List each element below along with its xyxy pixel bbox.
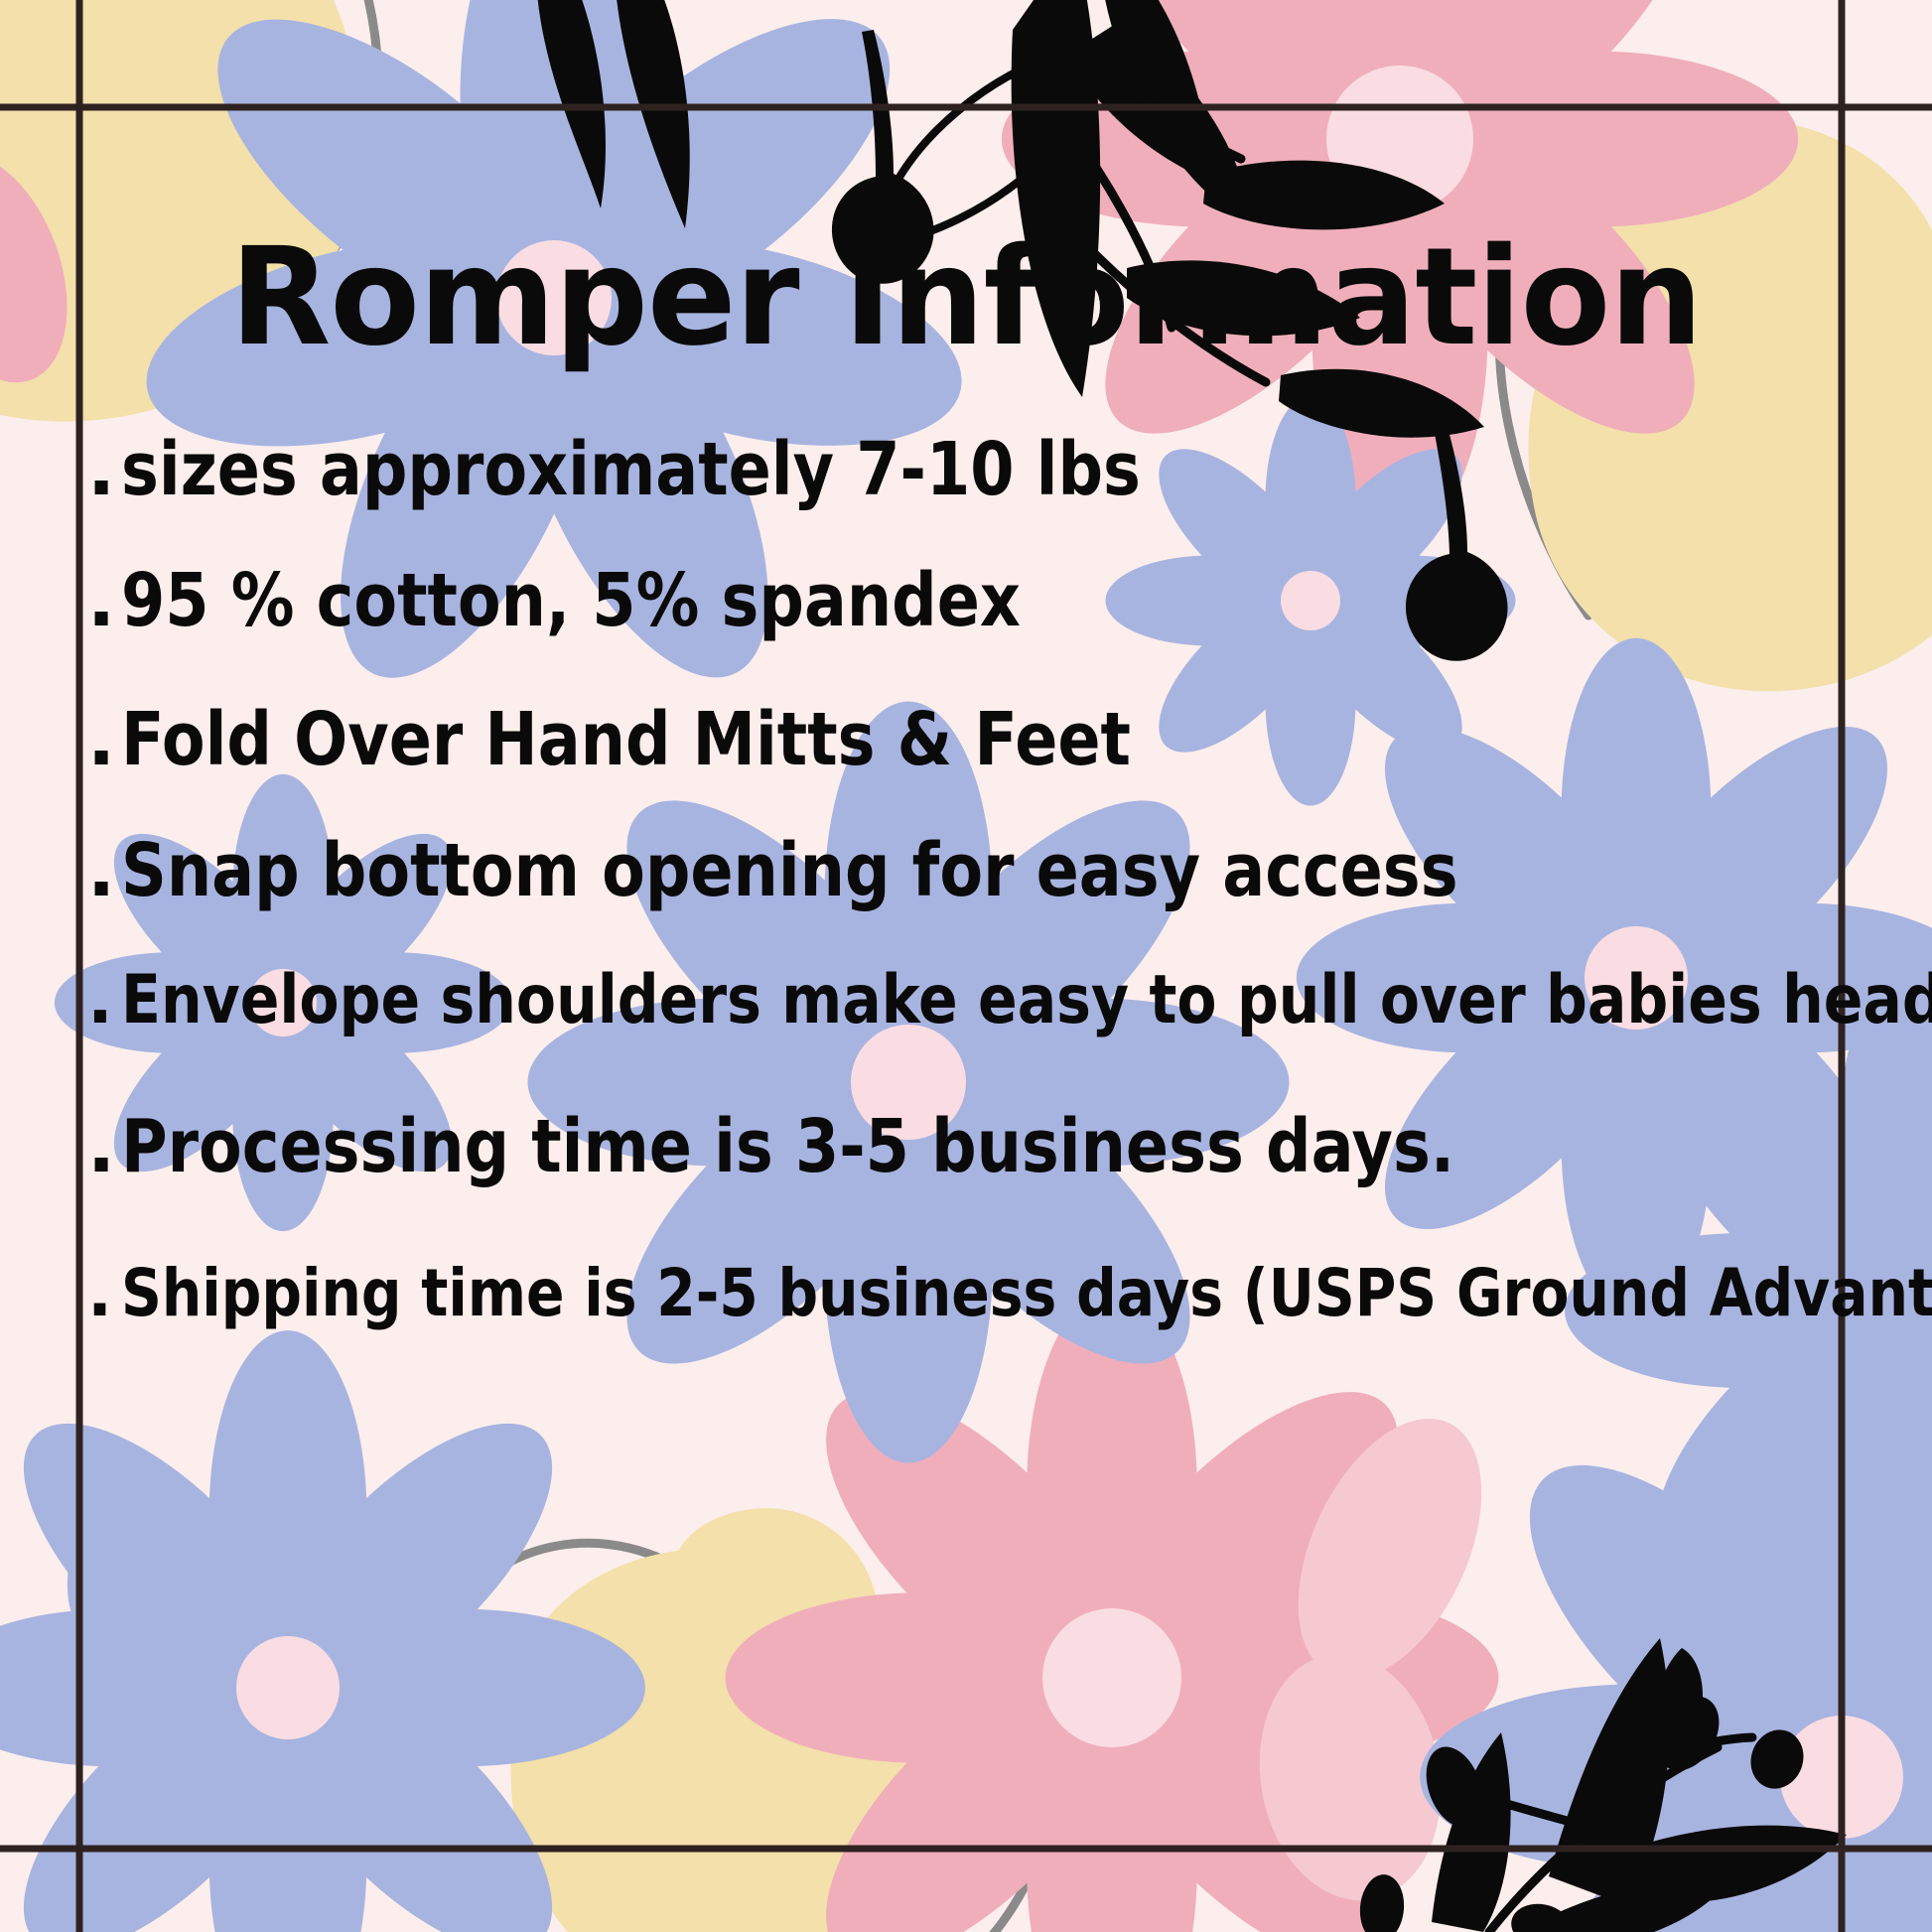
- bullet-text-mitts-feet: Fold Over Hand Mitts & Feet: [121, 697, 1131, 782]
- list-item: . Fold Over Hand Mitts & Feet: [87, 697, 1874, 828]
- list-item: . Processing time is 3-5 business days.: [87, 1104, 1874, 1255]
- list-item: . Snap bottom opening for easy access: [87, 828, 1874, 961]
- bullet-marker-icon: .: [87, 558, 121, 643]
- bullet-text-envelope-shoulders: Envelope shoulders make easy to pull ove…: [121, 961, 1932, 1039]
- bullet-marker-icon: .: [87, 961, 121, 1039]
- romper-info-bullet-list: . sizes approximately 7-10 lbs . 95 % co…: [87, 427, 1874, 1374]
- list-item: . Shipping time is 2-5 business days (US…: [87, 1255, 1874, 1374]
- bullet-text-fabric: 95 % cotton, 5% spandex: [121, 558, 1021, 643]
- list-item: . 95 % cotton, 5% spandex: [87, 558, 1874, 697]
- bullet-marker-icon: .: [87, 828, 121, 913]
- bullet-text-shipping-time: Shipping time is 2-5 business days (USPS…: [121, 1255, 1932, 1331]
- bullet-marker-icon: .: [87, 1255, 121, 1331]
- page-title: Romper Information: [29, 230, 1903, 365]
- romper-information-poster: Romper Information . sizes approximately…: [0, 0, 1932, 1932]
- bullet-marker-icon: .: [87, 697, 121, 782]
- bullet-marker-icon: .: [87, 1104, 121, 1189]
- bullet-text-sizes: sizes approximately 7-10 lbs: [121, 427, 1141, 512]
- list-item: . Envelope shoulders make easy to pull o…: [87, 961, 1874, 1104]
- list-item: . sizes approximately 7-10 lbs: [87, 427, 1874, 558]
- bullet-text-snap-bottom: Snap bottom opening for easy access: [121, 828, 1458, 913]
- bullet-text-processing-time: Processing time is 3-5 business days.: [121, 1104, 1454, 1189]
- bullet-marker-icon: .: [87, 427, 121, 512]
